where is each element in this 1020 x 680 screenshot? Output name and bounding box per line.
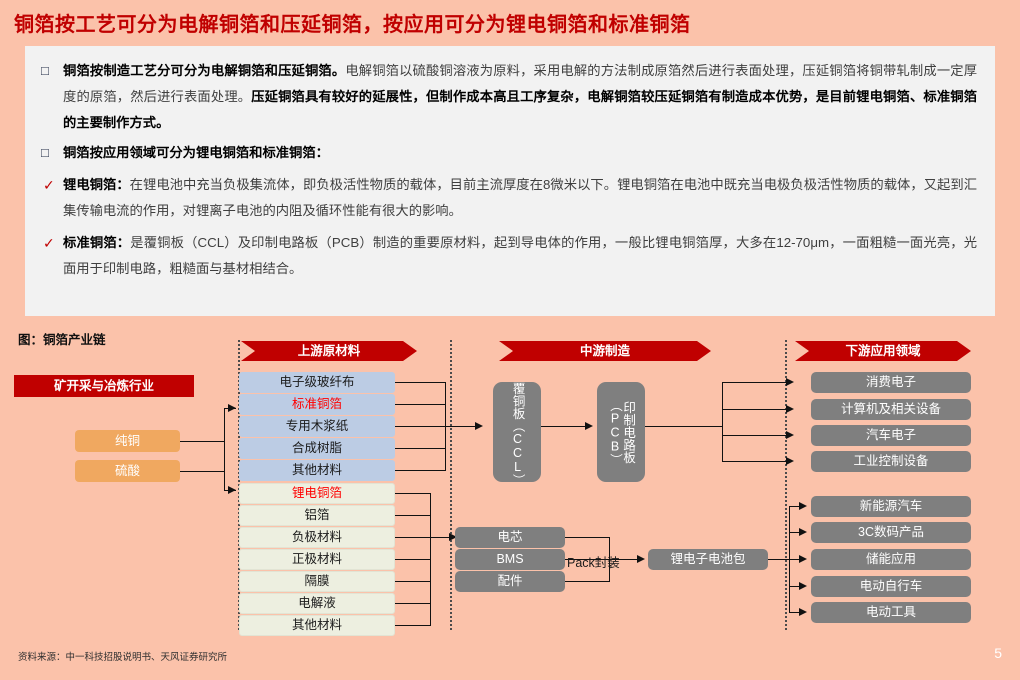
banner-downstream: 下游应用领域	[795, 341, 971, 361]
arrow-icon	[786, 457, 794, 465]
connector	[395, 470, 446, 471]
mid-ccl-block: 覆铜板（CCL）	[493, 382, 541, 482]
arrow-icon	[228, 486, 236, 494]
upstream-box-7: 负极材料	[239, 527, 395, 548]
downstream-top-2: 汽车电子	[811, 425, 971, 446]
downstream-bottom-1: 3C数码产品	[811, 522, 971, 543]
connector	[645, 426, 723, 427]
downstream-bottom-2: 储能应用	[811, 549, 971, 570]
square-bullet-icon: □	[41, 58, 49, 84]
upstream-box-2: 专用木浆纸	[239, 416, 395, 437]
connector	[722, 382, 723, 462]
connector	[541, 426, 586, 427]
arrow-icon	[786, 378, 794, 386]
downstream-bottom-4: 电动工具	[811, 602, 971, 623]
connector	[395, 404, 446, 405]
paragraph-2-lead: 铜箔按应用领域可分为锂电铜箔和标准铜箔：	[63, 145, 329, 160]
connector	[395, 382, 446, 383]
connector	[722, 461, 790, 462]
paragraph-3-body: 在锂电池中充当负极集流体，即负极活性物质的载体，目前主流厚度在8微米以下。锂电铜…	[63, 177, 977, 218]
square-bullet-icon: □	[41, 140, 49, 166]
battery-input-cell: 电芯	[455, 527, 565, 548]
battery-input-bms: BMS	[455, 549, 565, 570]
downstream-bottom-3: 电动自行车	[811, 576, 971, 597]
connector	[768, 559, 790, 560]
check-bullet-icon: ✓	[43, 230, 55, 256]
downstream-top-3: 工业控制设备	[811, 451, 971, 472]
connector	[565, 581, 610, 582]
connector	[395, 559, 431, 560]
connector	[180, 441, 225, 442]
connector	[430, 493, 431, 625]
pack-assembly-label: Pack封装	[567, 552, 620, 571]
raw-input-sulfuric-acid: 硫酸	[75, 460, 180, 482]
upstream-box-0: 电子级玻纤布	[239, 372, 395, 393]
arrow-icon	[799, 582, 807, 590]
paragraph-2: □铜箔按应用领域可分为锂电铜箔和标准铜箔：	[37, 140, 977, 166]
banner-upstream: 上游原材料	[241, 341, 417, 361]
connector	[395, 581, 431, 582]
connector	[395, 426, 446, 427]
paragraph-3: ✓锂电铜箔：在锂电池中充当负极集流体，即负极活性物质的载体，目前主流厚度在8微米…	[37, 172, 977, 224]
mining-industry-label: 矿开采与冶炼行业	[14, 375, 194, 397]
slide-page: 铜箔按工艺可分为电解铜箔和压延铜箔，按应用可分为锂电铜箔和标准铜箔 □铜箔按制造…	[0, 0, 1020, 680]
connector	[565, 537, 610, 538]
column-divider-2	[450, 340, 452, 630]
upstream-box-4: 其他材料	[239, 460, 395, 481]
arrow-icon	[799, 608, 807, 616]
connector	[395, 515, 431, 516]
mid-pcb-label: 印制电路板（PCB）	[608, 382, 634, 482]
check-bullet-icon: ✓	[43, 172, 55, 198]
upstream-box-1: 标准铜箔	[239, 394, 395, 415]
arrow-icon	[799, 528, 807, 536]
upstream-box-11: 其他材料	[239, 615, 395, 636]
upstream-box-8: 正极材料	[239, 549, 395, 570]
connector	[722, 409, 790, 410]
paragraph-4-body: 是覆铜板（CCL）及印制电路板（PCB）制造的重要原材料，起到导电体的作用，一般…	[63, 235, 977, 276]
arrow-icon	[799, 555, 807, 563]
downstream-top-0: 消费电子	[811, 372, 971, 393]
battery-pack-box: 锂电子电池包	[648, 549, 768, 570]
connector	[395, 493, 431, 494]
connector	[395, 603, 431, 604]
connector	[224, 471, 225, 490]
paragraph-4: ✓标准铜箔：是覆铜板（CCL）及印制电路板（PCB）制造的重要原材料，起到导电体…	[37, 230, 977, 282]
source-note: 资料来源：中一科技招股说明书、天风证券研究所	[18, 649, 227, 663]
paragraph-1: □铜箔按制造工艺分可分为电解铜箔和压延铜箔。电解铜箔以硫酸铜溶液为原料，采用电解…	[37, 58, 977, 136]
upstream-box-5: 锂电铜箔	[239, 483, 395, 504]
mid-ccl-label: 覆铜板（CCL）	[510, 382, 523, 482]
arrow-icon	[637, 555, 645, 563]
summary-panel: □铜箔按制造工艺分可分为电解铜箔和压延铜箔。电解铜箔以硫酸铜溶液为原料，采用电解…	[25, 46, 995, 316]
connector	[395, 537, 431, 538]
connector	[224, 408, 225, 472]
paragraph-4-lead: 标准铜箔：	[63, 235, 130, 250]
downstream-bottom-0: 新能源汽车	[811, 496, 971, 517]
raw-input-copper: 纯铜	[75, 430, 180, 452]
arrow-icon	[475, 422, 483, 430]
connector	[722, 382, 790, 383]
connector	[180, 471, 225, 472]
upstream-box-9: 隔膜	[239, 571, 395, 592]
mid-pcb-block: 印制电路板（PCB）	[597, 382, 645, 482]
page-number: 5	[994, 645, 1002, 661]
battery-input-parts: 配件	[455, 571, 565, 592]
arrow-icon	[786, 405, 794, 413]
paragraph-1-lead: 铜箔按制造工艺分可分为电解铜箔和压延铜箔。	[63, 63, 345, 78]
page-title: 铜箔按工艺可分为电解铜箔和压延铜箔，按应用可分为锂电铜箔和标准铜箔	[14, 8, 691, 37]
arrow-icon	[585, 422, 593, 430]
paragraph-3-lead: 锂电铜箔：	[63, 177, 130, 192]
downstream-top-1: 计算机及相关设备	[811, 399, 971, 420]
upstream-box-6: 铝箔	[239, 505, 395, 526]
arrow-icon	[799, 502, 807, 510]
connector	[395, 448, 446, 449]
figure-caption: 图：铜箔产业链	[18, 329, 106, 348]
banner-midstream: 中游制造	[499, 341, 711, 361]
upstream-box-3: 合成树脂	[239, 438, 395, 459]
upstream-box-10: 电解液	[239, 593, 395, 614]
arrow-icon	[228, 404, 236, 412]
arrow-icon	[786, 431, 794, 439]
connector	[722, 435, 790, 436]
connector	[395, 625, 431, 626]
